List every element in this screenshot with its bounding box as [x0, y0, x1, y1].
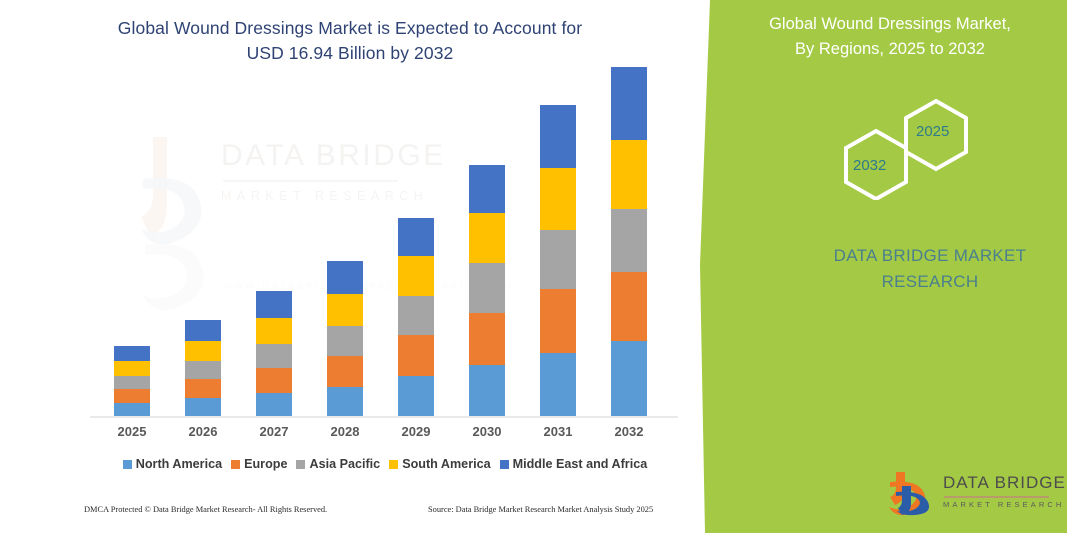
hexagon-label-end-year: 2032: [853, 157, 886, 174]
x-axis-label-2029: 2029: [386, 424, 446, 439]
chart-legend: North AmericaEuropeAsia PacificSouth Ame…: [90, 454, 680, 474]
hexagon-outlines-icon: [820, 95, 990, 200]
data-bridge-logo-icon: [888, 470, 938, 516]
bar-segment-north-america: [114, 403, 150, 416]
bar-segment-south-america: [327, 294, 363, 326]
logo-text: DATA BRIDGE MARKET RESEARCH: [943, 473, 1066, 509]
logo-sub-text: MARKET RESEARCH: [943, 500, 1066, 509]
bar-segment-asia-pacific: [114, 376, 150, 389]
page-title: Global Wound Dressings Market is Expecte…: [60, 16, 640, 67]
bar-segment-europe: [540, 289, 576, 353]
bar-2029: [398, 218, 434, 416]
bar-segment-north-america: [398, 376, 434, 416]
chart-title-line-1: Global Wound Dressings Market is Expecte…: [60, 16, 640, 41]
legend-item-asia-pacific[interactable]: Asia Pacific: [296, 457, 380, 471]
bar-segment-north-america: [185, 398, 221, 416]
footer-copyright: DMCA Protected © Data Bridge Market Rese…: [84, 505, 327, 514]
x-axis-labels: 20252026202720282029203020312032: [90, 424, 680, 444]
bar-2031: [540, 105, 576, 416]
bar-segment-north-america: [540, 353, 576, 416]
legend-label: Middle East and Africa: [513, 457, 648, 471]
logo-main-text: DATA BRIDGE: [943, 473, 1066, 493]
x-axis-label-2027: 2027: [244, 424, 304, 439]
legend-item-south-america[interactable]: South America: [389, 457, 490, 471]
hexagon-group: 2025 2032: [820, 95, 990, 200]
bar-segment-middle-east-and-africa: [185, 320, 221, 341]
brand-logo: DATA BRIDGE MARKET RESEARCH: [888, 470, 1048, 516]
footer: DMCA Protected © Data Bridge Market Rese…: [0, 505, 700, 527]
bar-segment-asia-pacific: [185, 361, 221, 379]
bar-chart-plot: [90, 120, 680, 418]
legend-label: Asia Pacific: [309, 457, 380, 471]
brand-name: DATA BRIDGE MARKET RESEARCH: [800, 243, 1060, 296]
legend-swatch-icon: [123, 460, 132, 469]
bar-segment-asia-pacific: [398, 296, 434, 335]
bar-segment-south-america: [540, 168, 576, 230]
bar-segment-europe: [256, 368, 292, 393]
panel-title-line-1: Global Wound Dressings Market,: [735, 12, 1045, 37]
legend-swatch-icon: [296, 460, 305, 469]
bar-segment-south-america: [611, 140, 647, 209]
bar-segment-south-america: [114, 361, 150, 376]
bar-segment-south-america: [185, 341, 221, 361]
bar-segment-europe: [469, 313, 505, 365]
bar-segment-europe: [114, 389, 150, 403]
bar-segment-asia-pacific: [327, 326, 363, 356]
x-axis-label-2030: 2030: [457, 424, 517, 439]
x-axis-label-2026: 2026: [173, 424, 233, 439]
bar-2028: [327, 261, 363, 416]
bar-2027: [256, 291, 292, 416]
bar-2030: [469, 165, 505, 416]
legend-label: North America: [136, 457, 222, 471]
bar-segment-middle-east-and-africa: [611, 67, 647, 140]
bar-segment-asia-pacific: [611, 209, 647, 272]
brand-name-line-2: RESEARCH: [800, 269, 1060, 295]
chart-panel: Global Wound Dressings Market is Expecte…: [0, 0, 700, 533]
bar-segment-asia-pacific: [469, 263, 505, 313]
bar-segment-south-america: [398, 256, 434, 296]
bar-segment-north-america: [469, 365, 505, 416]
logo-divider: [944, 496, 1049, 498]
bar-segment-europe: [398, 335, 434, 376]
bar-segment-north-america: [256, 393, 292, 416]
legend-swatch-icon: [389, 460, 398, 469]
legend-swatch-icon: [231, 460, 240, 469]
bar-segment-middle-east-and-africa: [398, 218, 434, 256]
legend-swatch-icon: [500, 460, 509, 469]
bar-segment-asia-pacific: [540, 230, 576, 289]
bar-segment-europe: [185, 379, 221, 398]
bar-segment-middle-east-and-africa: [469, 165, 505, 213]
bar-2025: [114, 346, 150, 416]
brand-name-line-1: DATA BRIDGE MARKET: [800, 243, 1060, 269]
infographic-root: Global Wound Dressings Market is Expecte…: [0, 0, 1067, 533]
chart-title-line-2: USD 16.94 Billion by 2032: [60, 41, 640, 66]
bar-segment-south-america: [469, 213, 505, 263]
footer-source: Source: Data Bridge Market Research Mark…: [428, 505, 653, 514]
bar-segment-europe: [611, 272, 647, 341]
legend-item-middle-east-and-africa[interactable]: Middle East and Africa: [500, 457, 648, 471]
bar-segment-middle-east-and-africa: [114, 346, 150, 361]
x-axis-label-2028: 2028: [315, 424, 375, 439]
panel-title: Global Wound Dressings Market, By Region…: [735, 12, 1045, 62]
bar-segment-middle-east-and-africa: [540, 105, 576, 168]
hexagon-label-start-year: 2025: [916, 123, 949, 140]
panel-title-line-2: By Regions, 2025 to 2032: [735, 37, 1045, 62]
bar-segment-south-america: [256, 318, 292, 344]
legend-label: South America: [402, 457, 490, 471]
x-axis-label-2031: 2031: [528, 424, 588, 439]
bar-segment-middle-east-and-africa: [327, 261, 363, 294]
bar-segment-north-america: [327, 387, 363, 416]
bar-segment-north-america: [611, 341, 647, 416]
x-axis-label-2032: 2032: [599, 424, 659, 439]
bar-segment-asia-pacific: [256, 344, 292, 368]
bar-2032: [611, 67, 647, 416]
x-axis-line: [90, 416, 678, 418]
bar-segment-middle-east-and-africa: [256, 291, 292, 318]
legend-label: Europe: [244, 457, 287, 471]
legend-item-north-america[interactable]: North America: [123, 457, 222, 471]
bar-2026: [185, 320, 221, 416]
bar-segment-europe: [327, 356, 363, 387]
legend-item-europe[interactable]: Europe: [231, 457, 287, 471]
x-axis-label-2025: 2025: [102, 424, 162, 439]
